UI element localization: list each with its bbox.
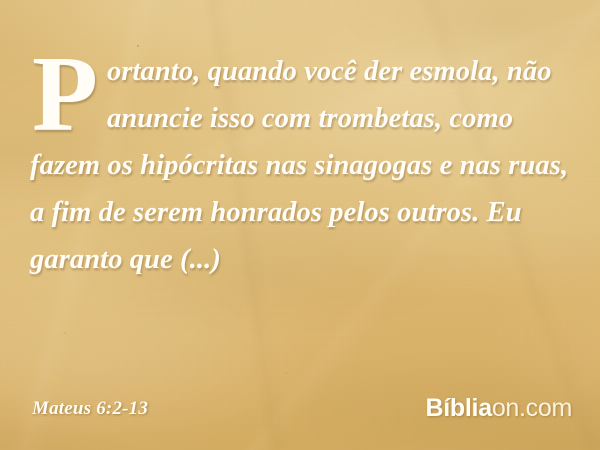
verse-text: ortanto, quando você der esmola, não anu… xyxy=(30,56,568,275)
brand-logo[interactable]: Bíbliaon.com xyxy=(426,394,572,423)
verse-reference: Mateus 6:2-13 xyxy=(32,398,148,420)
card-footer: Mateus 6:2-13 Bíbliaon.com xyxy=(0,390,600,450)
verse-block: P ortanto, quando você der esmola, não a… xyxy=(30,48,570,283)
card-content: P ortanto, quando você der esmola, não a… xyxy=(0,0,600,450)
verse-dropcap: P xyxy=(32,52,98,138)
brand-name-domain: on.com xyxy=(492,394,572,422)
bible-verse-card: P ortanto, quando você der esmola, não a… xyxy=(0,0,600,450)
brand-name-primary: Bíblia xyxy=(426,394,492,422)
